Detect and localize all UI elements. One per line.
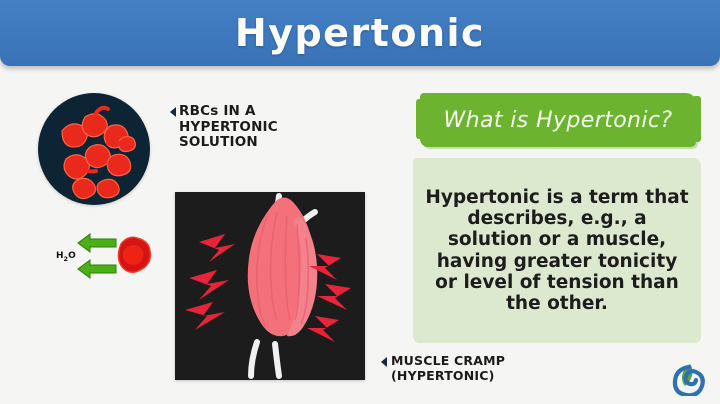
rbc-circle-micrograph [38, 93, 150, 205]
question-banner: What is Hypertonic? [420, 93, 696, 147]
h2o-label: H2O [56, 251, 76, 263]
logo-mark-icon [672, 362, 706, 396]
muscle-cramp-label-text: MUSCLE CRAMP (HYPERTONIC) [391, 354, 505, 384]
triangle-left-icon [381, 357, 387, 367]
triangle-left-icon [170, 107, 176, 117]
page-title: Hypertonic [235, 11, 485, 55]
rbc-label-text: RBCs IN A HYPERTONIC SOLUTION [179, 104, 278, 151]
infographic-canvas: Hypertonic RBCs IN A HYPE [0, 0, 720, 404]
muscle-cramp-label: MUSCLE CRAMP (HYPERTONIC) [381, 354, 505, 384]
crenated-rbc-svg [112, 234, 152, 280]
header-bar: Hypertonic [0, 0, 720, 66]
osmosis-water-efflux-group: H2O [56, 232, 156, 286]
biology-online-logo[interactable] [672, 362, 706, 396]
question-banner-text: What is Hypertonic? [444, 108, 673, 133]
crenated-rbc-icon [112, 234, 152, 280]
muscle-cramp-panel [175, 192, 365, 380]
rbc-label: RBCs IN A HYPERTONIC SOLUTION [170, 104, 350, 151]
muscle-cramp-svg [175, 192, 365, 380]
definition-box: Hypertonic is a term that describes, e.g… [413, 158, 701, 343]
rbc-cells-svg [38, 93, 150, 205]
definition-text: Hypertonic is a term that describes, e.g… [423, 187, 691, 313]
